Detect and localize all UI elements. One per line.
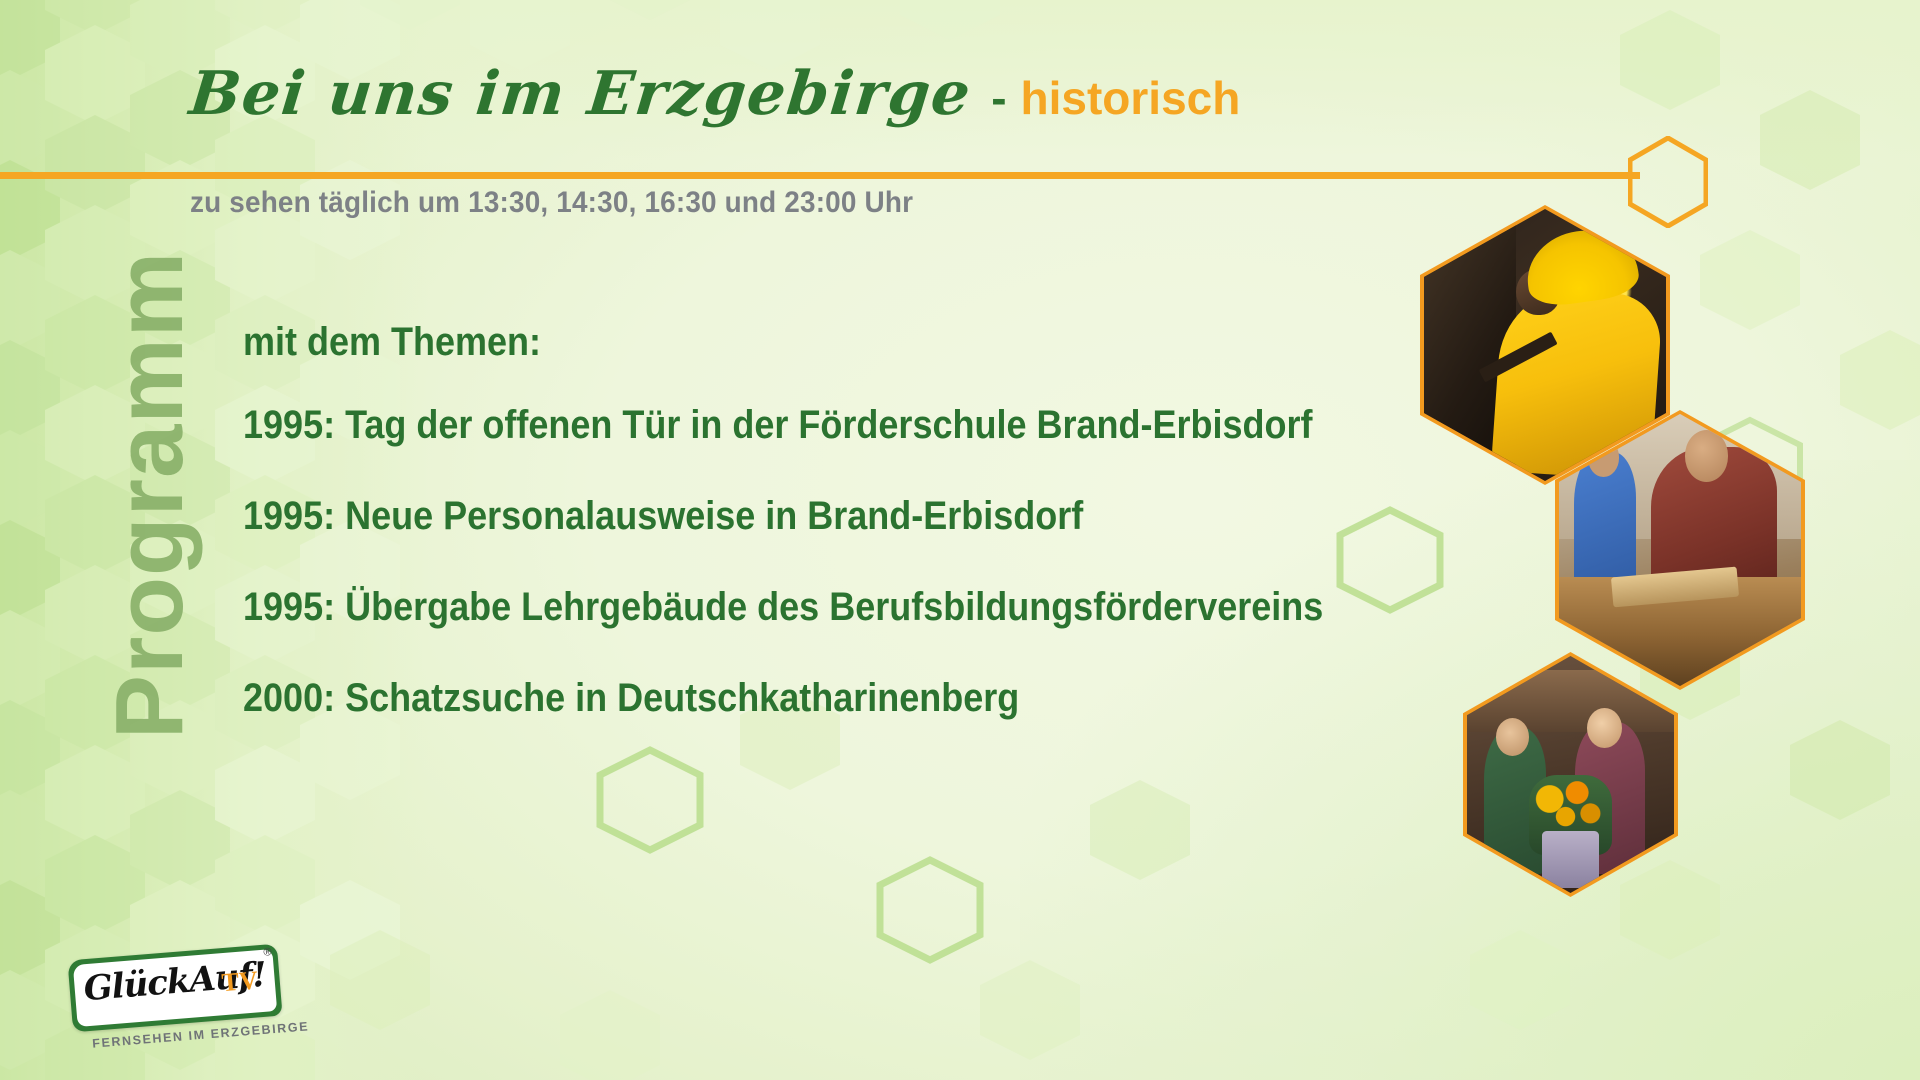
logo-registered-icon: ® bbox=[263, 946, 272, 959]
topic-item: 1995: Neue Personalausweise in Brand-Erb… bbox=[243, 494, 1350, 539]
children-hexagon-photo bbox=[1463, 652, 1678, 897]
logo-wordmark: GlückAuf! TV ® bbox=[67, 944, 282, 1033]
page-title-dash: - bbox=[991, 71, 1006, 125]
slide-header: Bei uns im Erzgebirge - historisch zu se… bbox=[0, 64, 1920, 164]
topics-panel: mit dem Themen: 1995: Tag der offenen Tü… bbox=[243, 320, 1473, 767]
topic-item: 1995: Übergabe Lehrgebäude des Berufsbil… bbox=[243, 585, 1350, 630]
logo-tv-text: TV bbox=[221, 965, 259, 998]
page-title: Bei uns im Erzgebirge - historisch bbox=[190, 64, 1240, 125]
broadcast-times-subtitle: zu sehen täglich um 13:30, 14:30, 16:30 … bbox=[190, 186, 913, 220]
page-title-script: Bei uns im Erzgebirge bbox=[187, 64, 974, 124]
topic-item: 1995: Tag der offenen Tür in der Förders… bbox=[243, 403, 1350, 448]
slide-canvas: Bei uns im Erzgebirge - historisch zu se… bbox=[0, 0, 1920, 1080]
glueckauf-tv-logo[interactable]: GlückAuf! TV ® FERNSEHEN IM ERZGEBIRGE bbox=[70, 952, 290, 1050]
page-title-highlight: historisch bbox=[1021, 71, 1241, 125]
sidebar-vertical-label: Programm bbox=[95, 165, 205, 825]
title-underline-rule bbox=[0, 172, 1640, 179]
topic-item: 2000: Schatzsuche in Deutschkatharinenbe… bbox=[243, 676, 1350, 721]
topics-lead-text: mit dem Themen: bbox=[243, 320, 1350, 365]
hexagon-notch-icon bbox=[1628, 136, 1708, 228]
